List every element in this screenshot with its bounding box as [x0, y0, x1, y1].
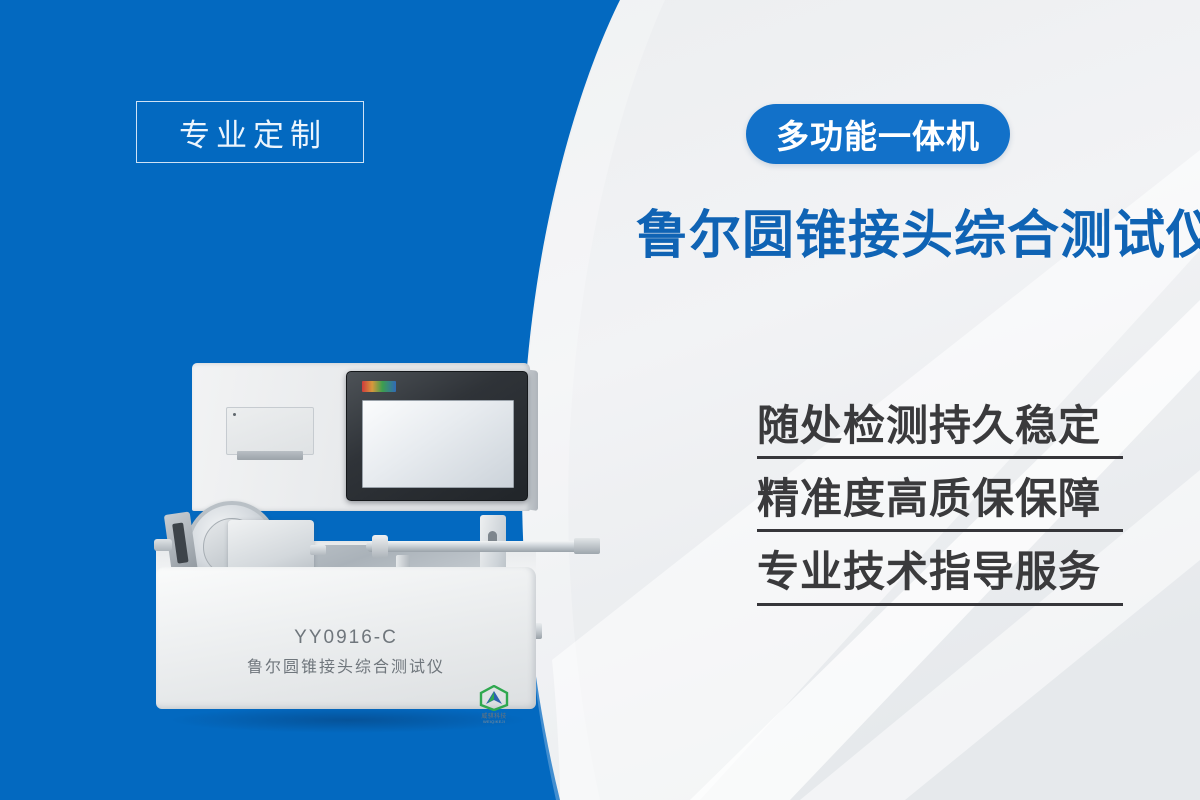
feature-divider [757, 529, 1123, 532]
feature-item: 随处检测持久稳定 [757, 400, 1123, 459]
feature-list: 随处检测持久稳定 精准度高质保保障 专业技术指导服务 [757, 400, 1123, 606]
shaft-tip [574, 538, 600, 554]
hexagon-shield-icon [474, 685, 514, 711]
hmi-screen-surface[interactable] [362, 400, 514, 488]
hmi-touchscreen[interactable] [346, 371, 528, 501]
machine-model-label: YY0916-C [156, 627, 536, 649]
feature-item: 精准度高质保保障 [757, 473, 1123, 532]
feature-divider [757, 456, 1123, 459]
feature-item: 专业技术指导服务 [757, 546, 1123, 605]
test-shaft [366, 541, 582, 552]
page-title: 鲁尔圆锥接头综合测试仪 [636, 193, 1200, 268]
product-banner: 专业定制 多功能一体机 鲁尔圆锥接头综合测试仪 随处检测持久稳定 精准度高质保保… [0, 0, 1200, 800]
rotary-adjust-pin[interactable] [154, 539, 172, 551]
feature-text: 随处检测持久稳定 [757, 400, 1123, 451]
rotary-shaft-end [310, 545, 326, 555]
vendor-logo: 威骐科技 WEIQIKEJI [474, 685, 514, 727]
printer-slot [226, 407, 314, 455]
product-machine: YY0916-C 鲁尔圆锥接头综合测试仪 威骐科技 WEIQIKEJI [150, 355, 670, 775]
custom-tag: 专业定制 [136, 101, 364, 163]
multifunction-badge: 多功能一体机 [746, 104, 1010, 164]
printer-indicator-icon [233, 413, 236, 416]
feature-text: 专业技术指导服务 [757, 546, 1123, 597]
feature-text: 精准度高质保保障 [757, 473, 1123, 524]
machine-name-label: 鲁尔圆锥接头综合测试仪 [156, 653, 536, 677]
shaft-collar [372, 535, 388, 558]
feature-divider [757, 603, 1123, 606]
vendor-pinyin: WEIQIKEJI [474, 719, 514, 724]
hmi-brand-logo-icon [362, 381, 396, 392]
